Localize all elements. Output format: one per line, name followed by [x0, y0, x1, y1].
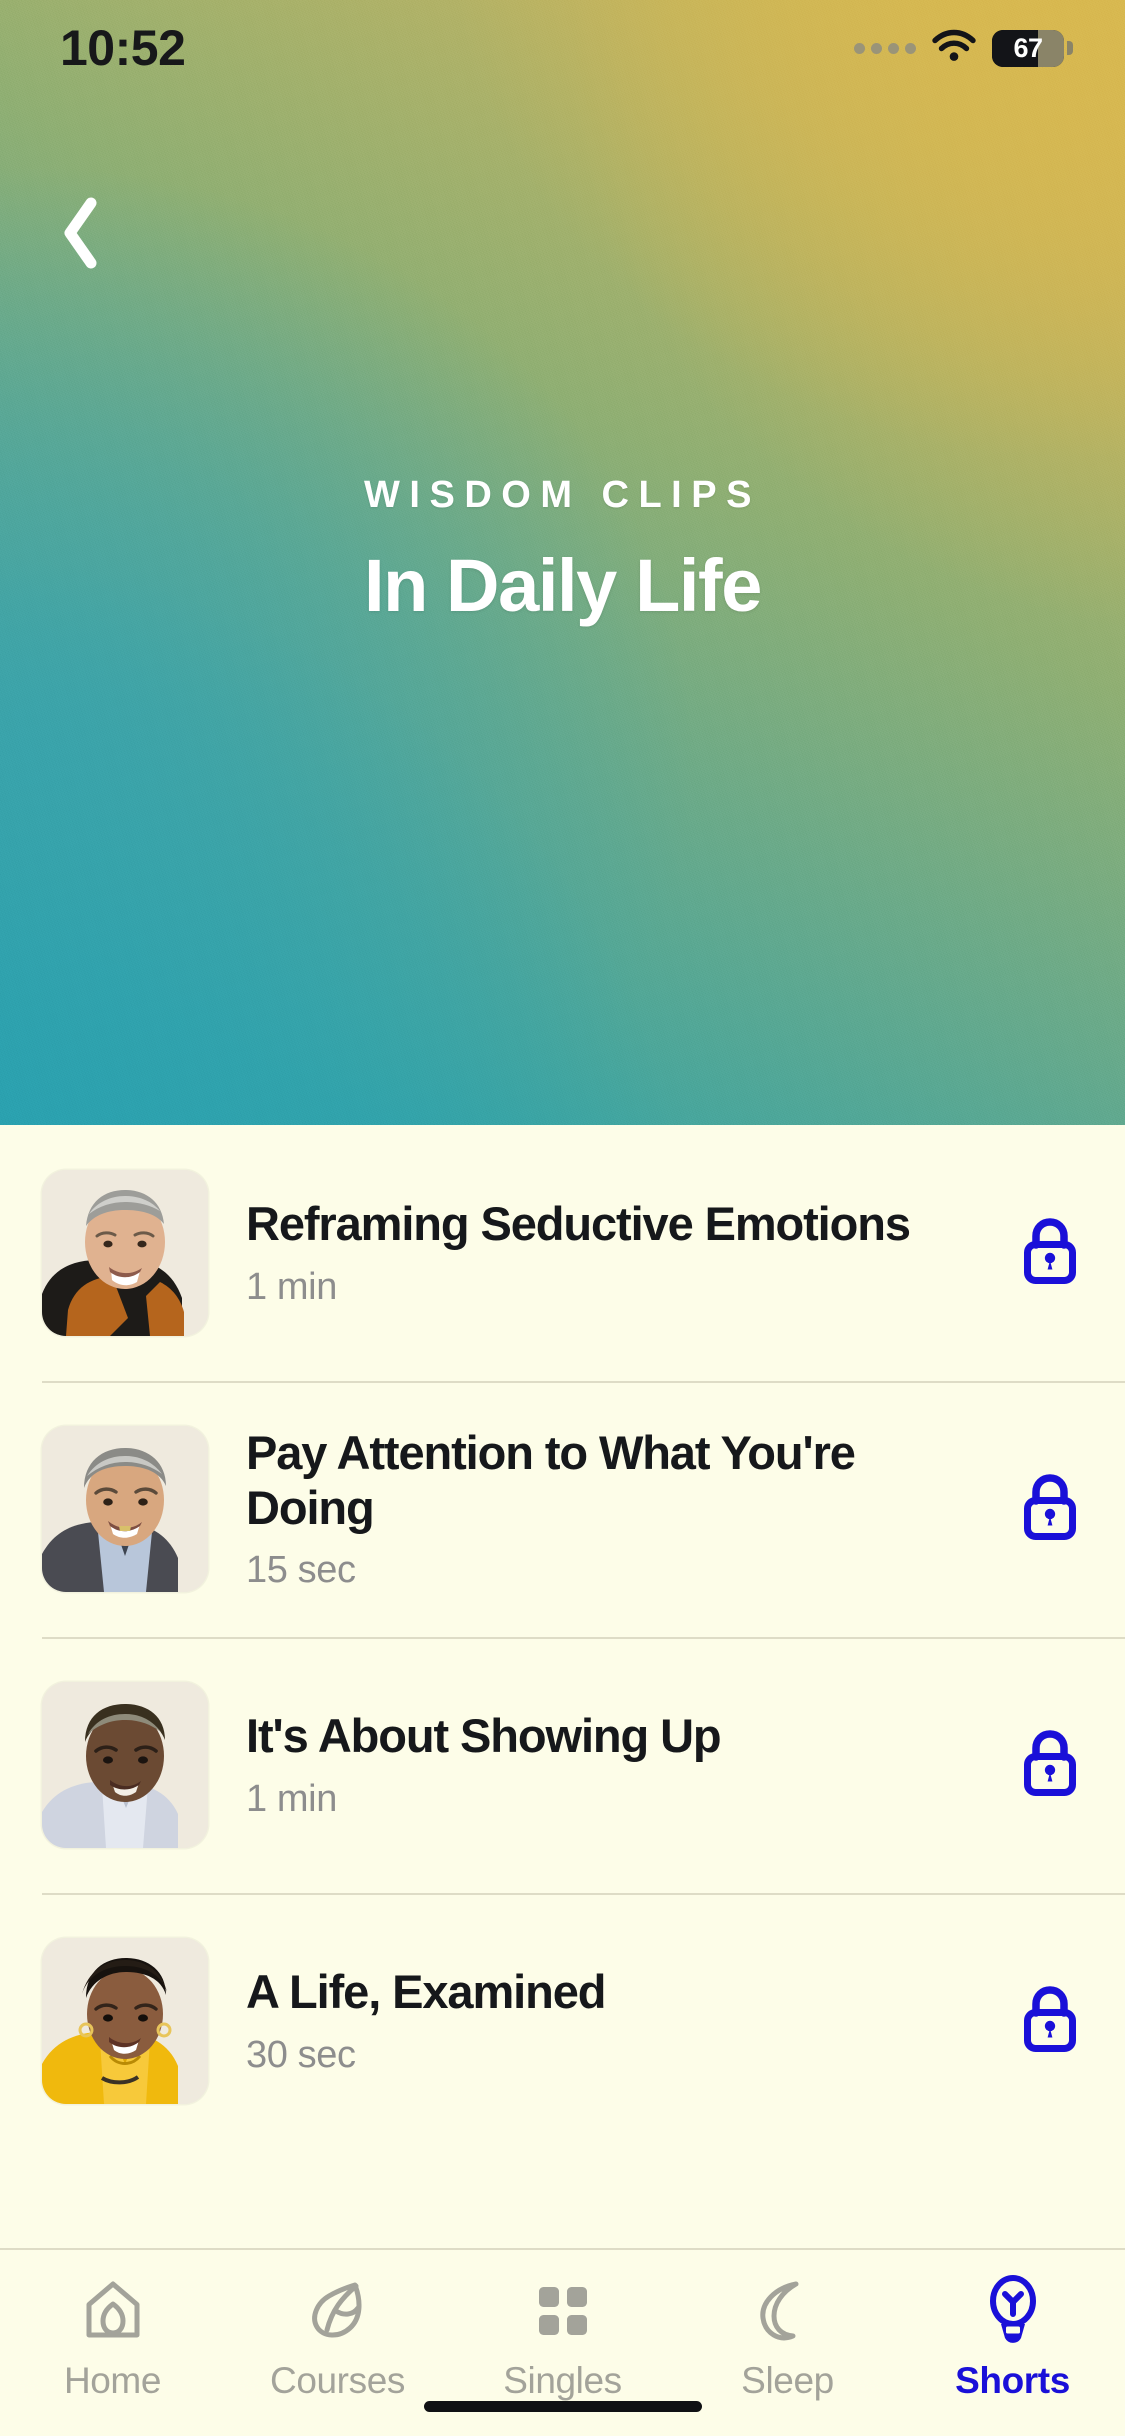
tab-label: Shorts — [955, 2360, 1070, 2402]
row-divider — [42, 1381, 1125, 1383]
lock-icon — [1019, 1727, 1081, 1804]
speaker-thumbnail-1 — [42, 1170, 208, 1336]
page-title: In Daily Life — [364, 543, 761, 628]
lock-icon — [1019, 1983, 1081, 2060]
row-body: Reframing Seductive Emotions 1 min — [208, 1197, 975, 1309]
tab-label: Singles — [503, 2360, 622, 2402]
row-body: A Life, Examined 30 sec — [208, 1965, 975, 2077]
battery-body: 67 — [992, 30, 1064, 67]
lightbulb-icon — [980, 2274, 1046, 2348]
clip-title: Reframing Seductive Emotions — [246, 1197, 955, 1252]
hero-text-block: WISDOM CLIPS In Daily Life — [0, 474, 1125, 628]
clip-title: A Life, Examined — [246, 1965, 955, 2020]
clip-title: It's About Showing Up — [246, 1709, 955, 1764]
tab-label: Home — [64, 2360, 161, 2402]
row-body: Pay Attention to What You're Doing 15 se… — [208, 1426, 975, 1592]
row-divider — [42, 1893, 1125, 1895]
hero-banner: 10:52 67 — [0, 0, 1125, 1125]
list-item[interactable]: Reframing Seductive Emotions 1 min — [0, 1125, 1125, 1381]
speaker-thumbnail-4 — [42, 1938, 208, 2104]
tab-label: Sleep — [741, 2360, 834, 2402]
lock-button[interactable] — [975, 1727, 1125, 1804]
grid-icon — [530, 2274, 596, 2348]
back-button[interactable] — [32, 186, 130, 284]
speaker-thumbnail-2 — [42, 1426, 208, 1592]
speaker-thumbnail-3 — [42, 1682, 208, 1848]
tab-home[interactable]: Home — [0, 2274, 225, 2402]
clip-duration: 1 min — [246, 1778, 955, 1821]
tab-courses[interactable]: Courses — [225, 2274, 450, 2402]
lock-icon — [1019, 1471, 1081, 1548]
lock-button[interactable] — [975, 1983, 1125, 2060]
home-indicator — [424, 2401, 702, 2412]
row-body: It's About Showing Up 1 min — [208, 1709, 975, 1821]
status-bar: 10:52 67 — [0, 0, 1125, 96]
clip-duration: 30 sec — [246, 2034, 955, 2077]
row-divider — [42, 1637, 1125, 1639]
moon-icon — [755, 2274, 821, 2348]
clip-duration: 15 sec — [246, 1549, 955, 1592]
lock-icon — [1019, 1215, 1081, 1292]
hero-kicker: WISDOM CLIPS — [364, 474, 761, 517]
battery-percent-label: 67 — [1013, 33, 1042, 64]
list-item[interactable]: Pay Attention to What You're Doing 15 se… — [0, 1381, 1125, 1637]
tab-shorts[interactable]: Shorts — [900, 2274, 1125, 2402]
clip-duration: 1 min — [246, 1266, 955, 1309]
wifi-icon — [931, 29, 977, 68]
list-item[interactable]: A Life, Examined 30 sec — [0, 1893, 1125, 2149]
status-bar-indicators: 67 — [854, 29, 1073, 68]
clip-list: Reframing Seductive Emotions 1 min — [0, 1125, 1125, 2149]
clip-title: Pay Attention to What You're Doing — [246, 1426, 955, 1535]
battery-icon: 67 — [992, 30, 1073, 67]
signal-dots-icon — [854, 43, 916, 54]
tab-label: Courses — [270, 2360, 405, 2402]
leaf-icon — [305, 2274, 371, 2348]
status-bar-time: 10:52 — [60, 23, 185, 73]
lock-button[interactable] — [975, 1215, 1125, 1292]
tab-sleep[interactable]: Sleep — [675, 2274, 900, 2402]
house-icon — [80, 2274, 146, 2348]
tab-singles[interactable]: Singles — [450, 2274, 675, 2402]
list-item[interactable]: It's About Showing Up 1 min — [0, 1637, 1125, 1893]
chevron-left-icon — [59, 196, 103, 275]
lock-button[interactable] — [975, 1471, 1125, 1548]
